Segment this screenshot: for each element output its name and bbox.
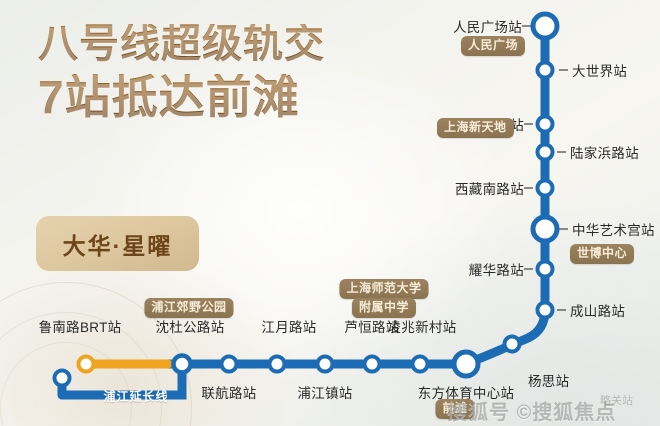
poi-badge-renmin-guangchang: 人民广场 [461, 36, 525, 56]
station-label-yaohua: 耀华路站 [469, 259, 524, 279]
station-marker-lujiabang[interactable] [538, 145, 553, 160]
station-label-zhonghua-yishugong: 中华艺术宫站 [572, 219, 655, 239]
poi-badge-jiaoye-gongyuan: 浦江郊野公园 [144, 298, 233, 318]
station-marker-lunan-brt[interactable] [79, 357, 94, 372]
station-label-lianhang: 联航路站 [201, 382, 256, 402]
watermark-secondary-text: 略关站 [600, 392, 633, 408]
station-label-xizangnan: 西藏南路站 [455, 178, 524, 198]
station-marker-pujiang-branch-end[interactable] [55, 371, 70, 386]
station-label-pujiangzhen: 浦江镇站 [297, 382, 352, 402]
station-label-yangsi: 杨思站 [528, 370, 569, 390]
station-marker-zhonghua-yishugong[interactable] [533, 217, 557, 241]
metro-line-poster: 八号线超级轨交 7站抵达前滩 大华·星曜 [0, 0, 660, 426]
station-marker-xizangnan[interactable] [538, 181, 553, 196]
poi-badge-shida-line2: 附属中学 [352, 298, 416, 318]
station-label-lunan-brt: 鲁南路BRT站 [39, 316, 122, 336]
branch-line-label: 浦江延长线 [103, 388, 168, 405]
station-marker-luheng[interactable] [365, 357, 380, 372]
station-label-chengshan: 成山路站 [570, 300, 625, 320]
station-marker-pujiangzhen[interactable] [318, 357, 333, 372]
station-marker-lianhang[interactable] [222, 357, 237, 372]
station-marker-small-group [55, 63, 553, 386]
station-label-jiangyue: 江月路站 [261, 316, 316, 336]
route-diagram [0, 0, 660, 426]
station-marker-chengshan[interactable] [538, 303, 553, 318]
station-marker-yaohua[interactable] [538, 262, 553, 277]
station-marker-renmin-guangchang[interactable] [533, 14, 557, 38]
station-marker-yangsi[interactable] [505, 337, 520, 352]
poi-badge-shibo: 世博中心 [570, 244, 634, 264]
station-marker-shendu[interactable] [174, 356, 191, 373]
poi-badge-xintiandi: 上海新天地 [437, 118, 514, 138]
watermark-sohu: 搜狐号 ©搜狐焦点 [447, 396, 616, 425]
station-marker-dongfang-tiyu[interactable] [454, 352, 478, 376]
station-label-dashijie: 大世界站 [572, 60, 627, 80]
station-label-lujiabang: 陆家浜路站 [570, 142, 639, 162]
station-marker-lingzhao[interactable] [413, 357, 428, 372]
station-label-luheng: 芦恒路站 [344, 316, 399, 336]
poi-badge-shida-line1: 上海师范大学 [339, 279, 428, 299]
station-label-renmin-guangchang: 人民广场站 [453, 16, 522, 36]
station-marker-dashijie[interactable] [538, 63, 553, 78]
station-marker-laoximen[interactable] [538, 117, 553, 132]
station-label-shendu: 沈杜公路站 [156, 316, 225, 336]
station-marker-jiangyue[interactable] [270, 357, 285, 372]
